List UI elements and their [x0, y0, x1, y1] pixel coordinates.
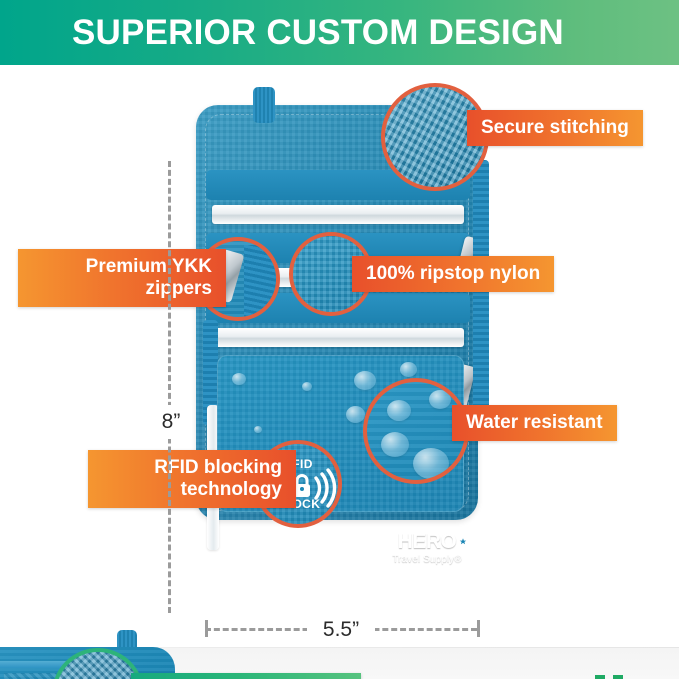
page-title: SUPERIOR CUSTOM DESIGN [72, 13, 564, 53]
dimension-cap-right [477, 620, 480, 637]
callout-label-rfid-blocking: RFID blocking technology [88, 450, 296, 508]
callout-label-ripstop-nylon: 100% ripstop nylon [352, 256, 554, 292]
water-droplet [254, 426, 262, 433]
hero-brand-logo: HERO Travel Supply® [368, 531, 486, 565]
header-banner: SUPERIOR CUSTOM DESIGN [0, 0, 679, 65]
dimension-line-vertical [168, 161, 171, 613]
zipper-track-1 [212, 205, 464, 224]
dimension-label-height: 8” [150, 405, 192, 439]
water-droplet [232, 373, 246, 385]
dimension-cap-left [205, 620, 208, 637]
letter-h-mark [595, 675, 623, 679]
winged-h-logo [557, 665, 657, 679]
callout-label-ykk-zippers: Premium YKK zippers [18, 249, 226, 307]
wing-icon [458, 535, 484, 549]
zipper-teeth-zoom [244, 245, 280, 321]
callout-label-water-resistant: Water resistant [452, 405, 617, 441]
water-droplet [381, 432, 409, 457]
callout-label-secure-stitching: Secure stitching [467, 110, 643, 146]
water-droplet [429, 390, 451, 409]
hero-wordmark: HERO [398, 531, 457, 552]
product-infographic: SUPERIOR CUSTOM DESIGN [0, 0, 679, 679]
dimension-label-width: 5.5” [307, 616, 375, 644]
footer-brand-logo [557, 665, 657, 679]
water-droplet [302, 382, 312, 391]
hero-logo-row: HERO [368, 531, 486, 552]
water-droplet [413, 448, 449, 479]
callout-label-breathable-mesh: Breathable mesh back [131, 673, 361, 679]
water-droplet [346, 406, 365, 423]
water-droplet [354, 371, 376, 390]
hero-tagline: Travel Supply® [368, 554, 486, 565]
water-droplet [387, 400, 411, 421]
product-stage: HERO Travel Supply® Secure stitching 100… [0, 65, 679, 679]
zipper-track-3 [212, 328, 464, 347]
wing-icon [370, 535, 396, 549]
strap-loop [253, 87, 275, 123]
water-droplet [400, 362, 417, 377]
padlock-icon [294, 476, 310, 498]
